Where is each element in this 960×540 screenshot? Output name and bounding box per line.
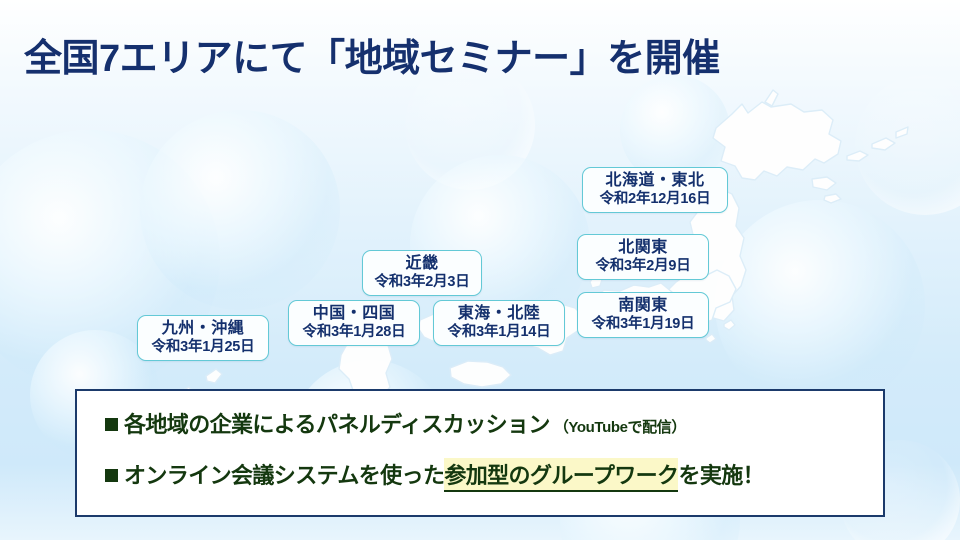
region-name: 南関東 [588, 297, 698, 315]
region-pill-minami-kanto[interactable]: 南関東 令和3年1月19日 [577, 292, 709, 338]
region-date: 令和2年12月16日 [593, 191, 717, 207]
region-name: 東海・北陸 [444, 305, 554, 323]
region-pill-kinki[interactable]: 近畿 令和3年2月3日 [362, 250, 482, 296]
page-title: 全国7エリアにて「地域セミナー」を開催 [24, 27, 720, 82]
info-box: 各地域の企業によるパネルディスカッション （YouTubeで配信） オンライン会… [75, 389, 885, 517]
region-pill-kita-kanto[interactable]: 北関東 令和3年2月9日 [577, 234, 709, 280]
region-name: 北海道・東北 [593, 172, 717, 190]
region-name: 北関東 [588, 239, 698, 257]
bullet-square-icon [105, 469, 118, 482]
region-date: 令和3年2月3日 [373, 274, 471, 290]
region-name: 近畿 [373, 255, 471, 273]
region-date: 令和3年1月14日 [444, 324, 554, 340]
region-name: 中国・四国 [299, 305, 409, 323]
region-pill-kyushu-okinawa[interactable]: 九州・沖縄 令和3年1月25日 [137, 315, 269, 361]
bullet-square-icon [105, 418, 118, 431]
region-date: 令和3年1月25日 [148, 339, 258, 355]
region-date: 令和3年1月19日 [588, 316, 698, 332]
bullet-item-1: 各地域の企業によるパネルディスカッション （YouTubeで配信） [105, 407, 883, 439]
slide-canvas: 全国7エリアにて「地域セミナー」を開催 北海道・東北 令和2年12月16日 北関… [0, 0, 960, 540]
region-name: 九州・沖縄 [148, 320, 258, 338]
bullet-sub-text: （YouTubeで配信） [554, 416, 686, 437]
bullet-main-text: 各地域の企業によるパネルディスカッション [124, 407, 550, 439]
region-pill-tokai-hokuriku[interactable]: 東海・北陸 令和3年1月14日 [433, 300, 565, 346]
bullet-post-text: を実施！ [678, 458, 764, 490]
region-pill-chugoku-shikoku[interactable]: 中国・四国 令和3年1月28日 [288, 300, 420, 346]
region-date: 令和3年2月9日 [588, 258, 698, 274]
bullet-highlight-text: 参加型のグループワーク [444, 458, 678, 492]
region-date: 令和3年1月28日 [299, 324, 409, 340]
bullet-pre-text: オンライン会議システムを使った [124, 458, 444, 490]
bullet-item-2: オンライン会議システムを使った 参加型のグループワーク を実施！ [105, 458, 883, 492]
region-pill-hokkaido-tohoku[interactable]: 北海道・東北 令和2年12月16日 [582, 167, 728, 213]
